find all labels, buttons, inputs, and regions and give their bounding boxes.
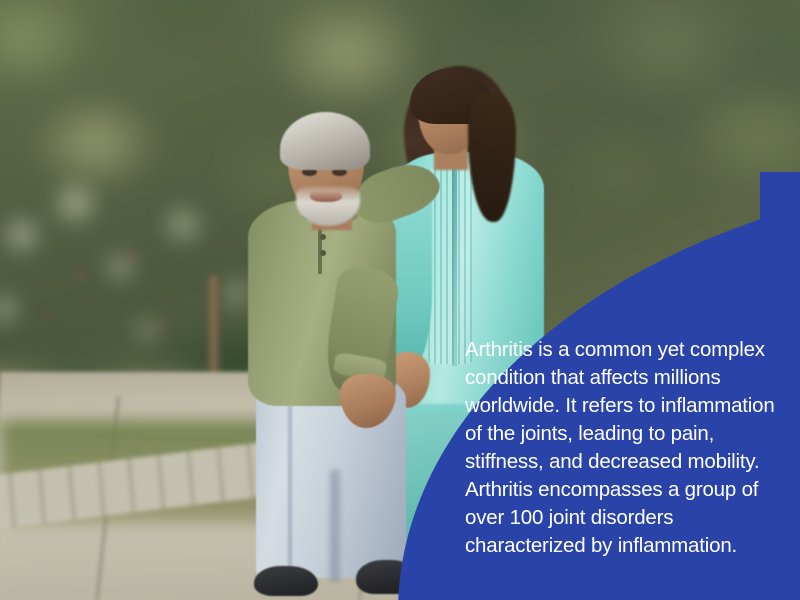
man-grey-hair: [280, 112, 370, 170]
man-shirt-button-bottom: [320, 250, 326, 256]
callout-body-text: Arthritis is a common yet complex condit…: [465, 336, 787, 560]
man-left-shoe: [254, 566, 318, 596]
man-mouth: [310, 190, 342, 202]
arthritis-infographic-banner: Arthritis is a common yet complex condit…: [0, 0, 800, 600]
man-shirt-button-top: [320, 234, 326, 240]
woman-kurta-placket: [452, 156, 457, 366]
man-leg-separation: [330, 470, 340, 582]
man-trouser-fold: [288, 392, 292, 568]
